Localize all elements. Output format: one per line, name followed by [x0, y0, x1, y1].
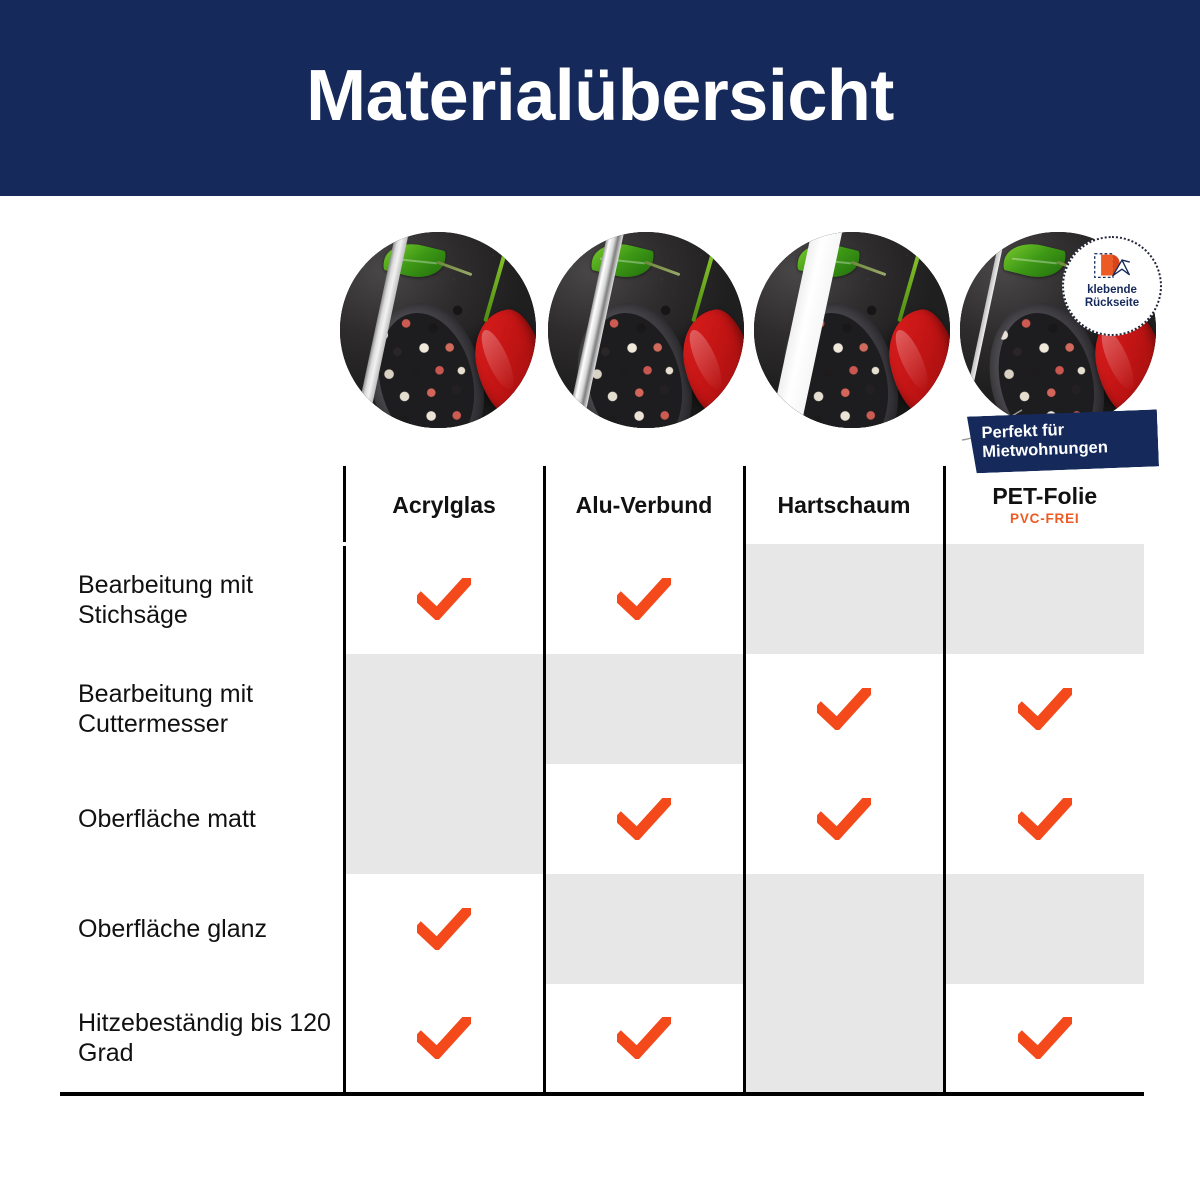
spice-photo	[548, 232, 744, 428]
check-icon	[617, 1017, 671, 1059]
spice-photo	[754, 232, 950, 428]
row-label: Oberfläche matt	[60, 764, 344, 874]
column-title: Hartschaum	[746, 493, 943, 517]
cell-not-supported	[744, 544, 944, 654]
product-thumbnail-hartschaum	[754, 232, 950, 428]
table-row: Bearbeitung mit Stichsäge	[60, 544, 1144, 654]
cell-supported	[744, 764, 944, 874]
check-icon	[817, 688, 871, 730]
circle-image-hartschaum	[754, 232, 950, 428]
page-title: Materialübersicht	[0, 0, 1200, 196]
check-icon	[1018, 688, 1072, 730]
cell-supported	[344, 984, 544, 1094]
table-body: Bearbeitung mit StichsägeBearbeitung mit…	[60, 544, 1144, 1094]
product-thumbnail-alu-verbund	[548, 232, 744, 428]
spice-photo	[340, 232, 536, 428]
cell-supported	[944, 654, 1144, 764]
row-label: Oberfläche glanz	[60, 874, 344, 984]
cell-supported	[544, 984, 744, 1094]
cell-not-supported	[744, 874, 944, 984]
header-empty-corner	[60, 466, 344, 544]
cell-supported	[344, 874, 544, 984]
column-header-hartschaum: Hartschaum	[744, 466, 944, 544]
badge-text: klebende Rückseite	[1085, 284, 1139, 310]
column-header-alu-verbund: Alu-Verbund	[544, 466, 744, 544]
cell-supported	[944, 984, 1144, 1094]
cell-not-supported	[544, 654, 744, 764]
cell-supported	[744, 654, 944, 764]
check-icon	[617, 578, 671, 620]
cell-not-supported	[344, 764, 544, 874]
cell-not-supported	[944, 874, 1144, 984]
klebende-rueckseite-badge: klebende Rückseite	[1062, 236, 1162, 336]
product-thumbnail-acrylglas	[340, 232, 536, 428]
check-icon	[817, 798, 871, 840]
column-title: PET-Folie	[946, 484, 1145, 508]
circle-image-acrylglas	[340, 232, 536, 428]
cell-supported	[944, 764, 1144, 874]
cell-not-supported	[744, 984, 944, 1094]
cell-not-supported	[944, 544, 1144, 654]
peel-backing-icon	[1092, 251, 1132, 281]
header-band: Materialübersicht	[0, 0, 1200, 196]
table-row: Oberfläche matt	[60, 764, 1144, 874]
cell-not-supported	[344, 654, 544, 764]
cell-supported	[544, 764, 744, 874]
row-label: Hitzebeständig bis 120 Grad	[60, 984, 344, 1094]
table-header: Acrylglas Alu-Verbund Hartschaum PET-Fol…	[60, 466, 1144, 544]
cell-supported	[544, 544, 744, 654]
badge-line-2: Rückseite	[1085, 297, 1139, 310]
check-icon	[417, 1017, 471, 1059]
cell-supported	[344, 544, 544, 654]
material-comparison-table: Acrylglas Alu-Verbund Hartschaum PET-Fol…	[60, 466, 1144, 1096]
check-icon	[1018, 1017, 1072, 1059]
column-title: Alu-Verbund	[546, 493, 743, 517]
check-icon	[417, 908, 471, 950]
column-title: Acrylglas	[346, 493, 543, 517]
table-header-row: Acrylglas Alu-Verbund Hartschaum PET-Fol…	[60, 466, 1144, 544]
column-header-acrylglas: Acrylglas	[344, 466, 544, 544]
column-header-pet-folie: PET-Folie PVC-FREI	[944, 466, 1144, 544]
pvc-free-label: PVC-FREI	[946, 511, 1145, 526]
product-thumbnail-row	[340, 232, 1160, 432]
check-icon	[617, 798, 671, 840]
table-row: Bearbeitung mit Cuttermesser	[60, 654, 1144, 764]
row-label: Bearbeitung mit Cuttermesser	[60, 654, 344, 764]
table-row: Hitzebeständig bis 120 Grad	[60, 984, 1144, 1094]
material-overview-infographic: Materialübersicht	[0, 0, 1200, 1200]
row-label: Bearbeitung mit Stichsäge	[60, 544, 344, 654]
circle-image-alu-verbund	[548, 232, 744, 428]
perfekt-fuer-mietwohnungen-ribbon: Perfekt für Mietwohnungen	[967, 409, 1159, 473]
table-row: Oberfläche glanz	[60, 874, 1144, 984]
check-icon	[1018, 798, 1072, 840]
check-icon	[417, 578, 471, 620]
cell-not-supported	[544, 874, 744, 984]
badge-line-1: klebende	[1085, 284, 1139, 297]
